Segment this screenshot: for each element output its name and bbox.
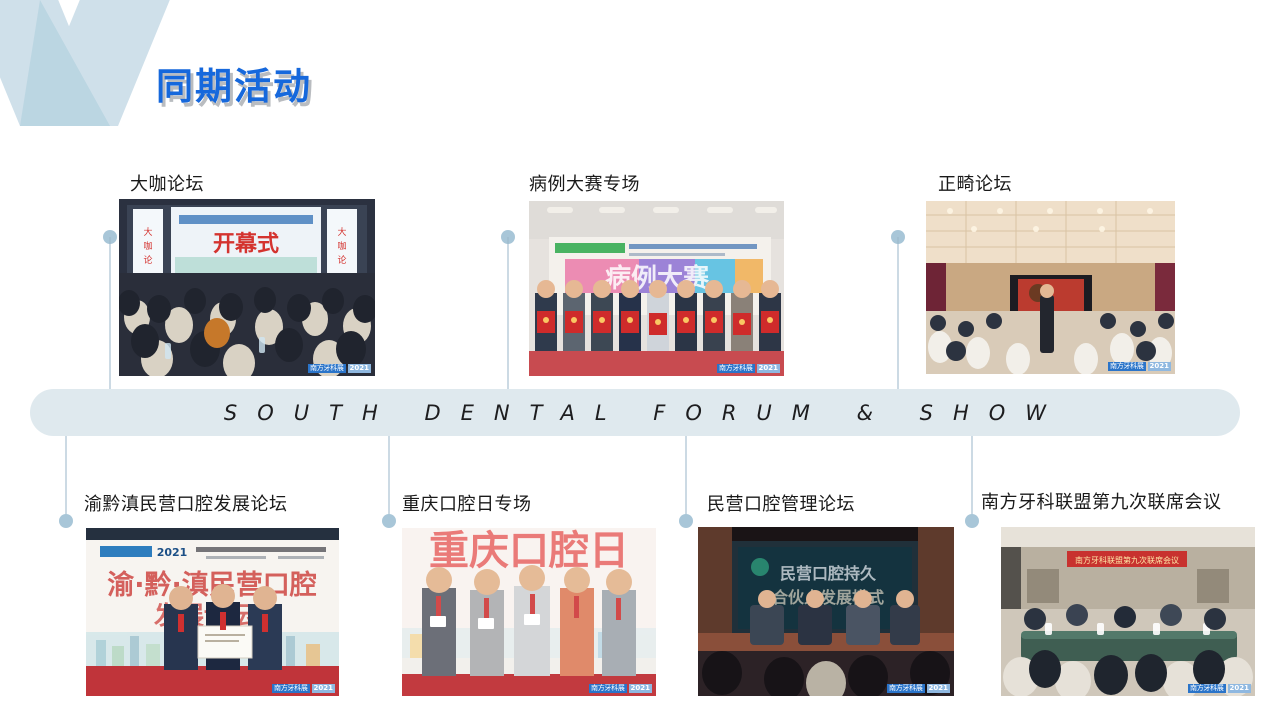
item-label-daka-forum: 大咖论坛 xyxy=(130,170,204,196)
svg-text:咖: 咖 xyxy=(143,240,152,252)
photo-alliance-meeting: 南方牙科联盟第九次联席会议 xyxy=(1001,527,1255,696)
connector-line xyxy=(66,430,67,521)
svg-text:大: 大 xyxy=(143,226,152,238)
item-label-chongqing-day: 重庆口腔日专场 xyxy=(402,490,532,516)
photo-watermark: 南方牙科展 2021 xyxy=(308,364,371,373)
connector-dot xyxy=(965,514,979,528)
svg-text:开幕式: 开幕式 xyxy=(213,232,279,257)
connector-case-competition xyxy=(501,230,515,395)
connector-dot xyxy=(382,514,396,528)
connector-line xyxy=(972,430,973,521)
item-label-orthodontics-forum: 正畸论坛 xyxy=(938,170,1012,196)
photo-private-clinic-management: 民营口腔持久 合伙人发展模式 南 xyxy=(698,527,954,696)
page-title: 同期活动 xyxy=(156,68,312,105)
photo-yuqiandian-forum: 2021 渝·黔·滇民营口腔 发展论坛 xyxy=(86,528,339,696)
photo-watermark: 南方牙科展 2021 xyxy=(272,684,335,693)
photo-watermark: 南方牙科展 2021 xyxy=(1188,684,1251,693)
svg-text:论: 论 xyxy=(337,254,346,266)
svg-text:民营口腔持久: 民营口腔持久 xyxy=(780,564,877,583)
item-label-case-competition: 病例大赛专场 xyxy=(529,170,640,196)
photo-watermark: 南方牙科展 2021 xyxy=(717,364,780,373)
photo-chongqing-day: 重庆口腔日 xyxy=(402,528,656,696)
banner-text: SOUTH DENTAL FORUM & SHOW xyxy=(30,401,1240,425)
item-label-yuqiandian-forum: 渝黔滇民营口腔发展论坛 xyxy=(84,490,288,516)
connector-yuqiandian-forum xyxy=(59,430,73,528)
connector-line xyxy=(898,237,899,395)
connector-alliance-meeting xyxy=(965,430,979,528)
decorative-v-mark xyxy=(0,0,180,126)
svg-text:南方牙科联盟第九次联席会议: 南方牙科联盟第九次联席会议 xyxy=(1075,555,1179,565)
connector-private-clinic-management xyxy=(679,430,693,528)
connector-line xyxy=(110,237,111,395)
svg-text:咖: 咖 xyxy=(337,240,346,252)
connector-daka-forum xyxy=(103,230,117,395)
svg-text:大: 大 xyxy=(337,226,346,238)
photo-orthodontics-forum: 南方牙科展 2021 xyxy=(926,201,1175,374)
connector-orthodontics-forum xyxy=(891,230,905,395)
connector-dot xyxy=(679,514,693,528)
connector-line xyxy=(389,430,390,521)
photo-watermark: 南方牙科展 2021 xyxy=(1108,362,1171,371)
svg-text:2021: 2021 xyxy=(157,546,188,559)
slide-canvas: 同期活动 大咖论坛 开幕式 大 咖 论 大 咖 论 xyxy=(0,0,1267,713)
connector-line xyxy=(508,237,509,395)
connector-dot xyxy=(59,514,73,528)
svg-text:论: 论 xyxy=(143,254,152,266)
photo-watermark: 南方牙科展 2021 xyxy=(589,684,652,693)
connector-line xyxy=(686,430,687,521)
photo-watermark: 南方牙科展 2021 xyxy=(887,684,950,693)
photo-case-competition: 病例大赛 xyxy=(529,201,784,376)
photo-daka-forum: 开幕式 大 咖 论 大 咖 论 xyxy=(119,199,375,376)
connector-chongqing-day xyxy=(382,430,396,528)
banner-south-dental-forum: SOUTH DENTAL FORUM & SHOW xyxy=(30,389,1240,436)
item-label-private-clinic-management: 民营口腔管理论坛 xyxy=(707,490,855,516)
item-label-alliance-meeting: 南方牙科联盟第九次联席会议 xyxy=(981,488,1222,514)
